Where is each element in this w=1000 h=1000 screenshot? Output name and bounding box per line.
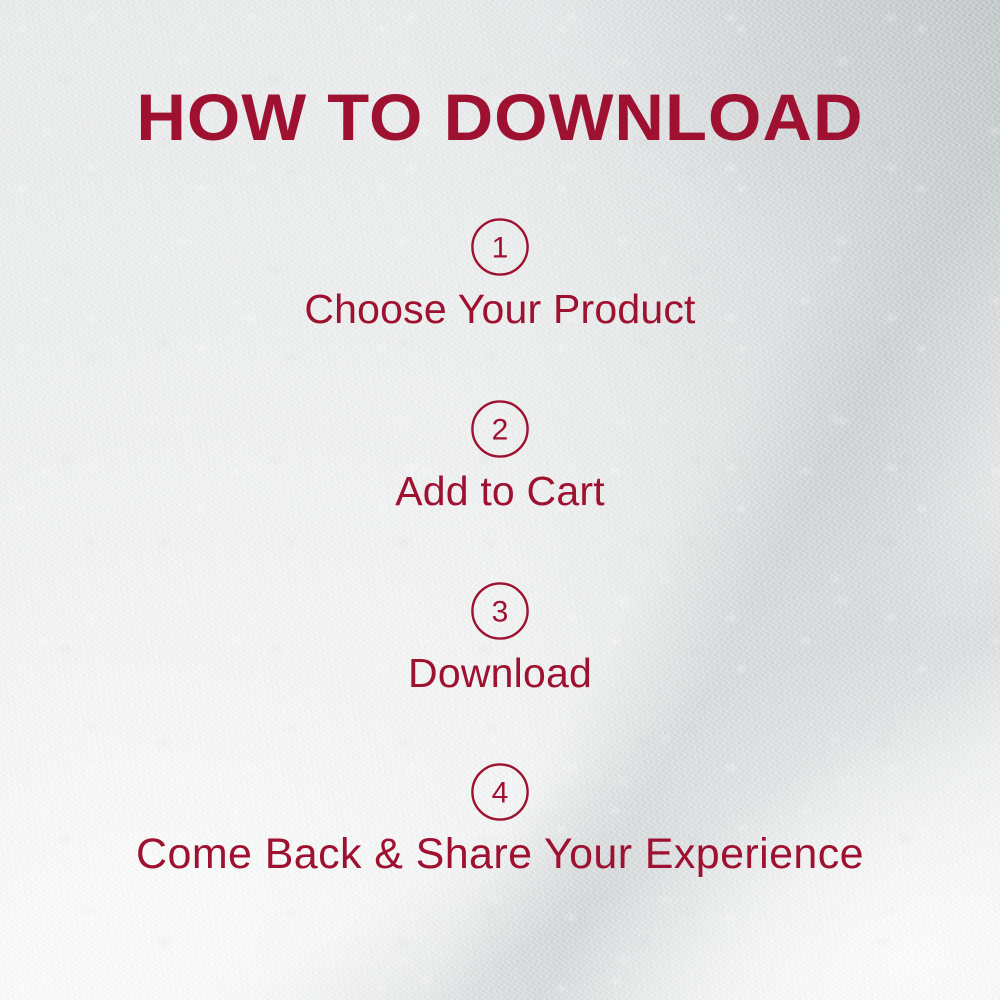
step-number-text: 4 [492,777,509,810]
numbered-circle-icon: 2 [471,400,529,458]
step-item-1: 1 Choose Your Product [0,218,1000,332]
step-label-3: Download [0,650,1000,696]
numbered-circle-icon: 1 [471,218,529,276]
step-item-3: 3 Download [0,582,1000,696]
page-title: HOW TO DOWNLOAD [0,86,1000,148]
step-label-2: Add to Cart [0,468,1000,514]
step-number-text: 1 [492,232,509,265]
poster-content: HOW TO DOWNLOAD 1 Choose Your Product 2 [0,0,1000,1000]
step-number-text: 2 [492,414,509,447]
step-label-1: Choose Your Product [0,286,1000,332]
how-to-download-poster: HOW TO DOWNLOAD 1 Choose Your Product 2 [0,0,1000,1000]
step-label-4: Come Back & Share Your Experience [0,831,1000,877]
numbered-circle-icon: 3 [471,582,529,640]
step-item-4: 4 Come Back & Share Your Experience [0,763,1000,877]
step-item-2: 2 Add to Cart [0,400,1000,514]
numbered-circle-icon: 4 [471,763,529,821]
step-number-text: 3 [492,596,509,629]
